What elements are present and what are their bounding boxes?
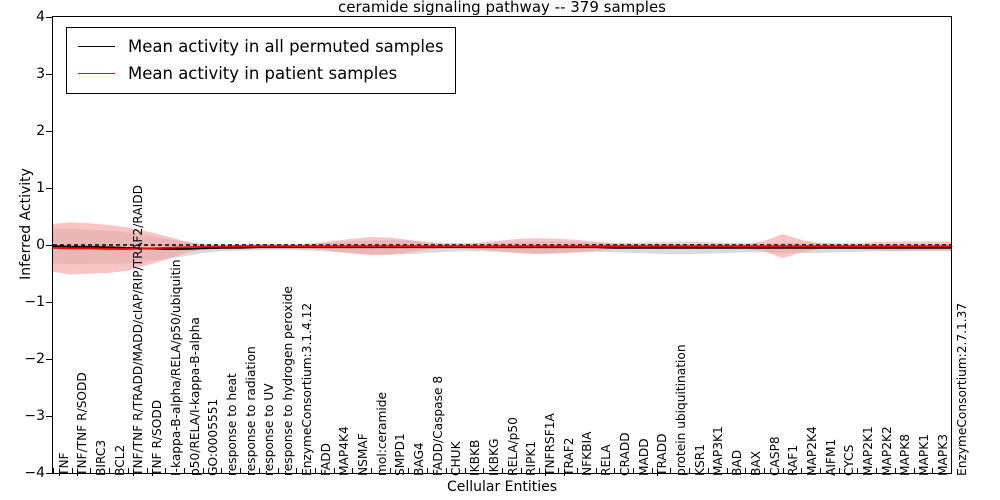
x-tick-mark — [614, 468, 615, 474]
x-tick-label: TNF/TNF R/TRADD/MADD/cIAP/RIP/TRAF2/RAID… — [132, 185, 144, 476]
y-tick-label: 2 — [5, 124, 45, 138]
x-tick-mark — [801, 468, 802, 474]
x-tick-label: GO:0005551 — [207, 399, 219, 476]
x-tick-mark — [745, 468, 746, 474]
y-tick-label: −3 — [5, 409, 45, 423]
x-tick-mark — [278, 468, 279, 474]
x-tick-mark — [352, 468, 353, 474]
y-tick-label: −2 — [5, 352, 45, 366]
x-tick-mark — [334, 468, 335, 474]
x-tick-label: protein ubiquitination — [675, 344, 687, 476]
x-tick-label: TRAF2 — [563, 437, 575, 476]
x-tick-label: IKBKG — [488, 439, 500, 476]
y-tick-label: −4 — [5, 466, 45, 480]
x-tick-label: MAPK3 — [937, 434, 949, 476]
x-tick-label: I-kappa-B-alpha/RELA/p50/ubiquitin — [170, 260, 182, 476]
x-tick-mark — [914, 468, 915, 474]
legend-line-swatch-patient — [78, 73, 115, 74]
x-tick-mark — [109, 468, 110, 474]
x-tick-label: EnzymeConsortium:3.1.4.12 — [301, 303, 313, 476]
x-tick-mark — [371, 468, 372, 474]
x-tick-mark — [390, 468, 391, 474]
x-tick-mark — [932, 468, 933, 474]
x-tick-mark — [876, 468, 877, 474]
x-tick-label: MAPK1 — [918, 434, 930, 476]
x-tick-mark — [128, 468, 129, 474]
x-tick-mark — [90, 468, 91, 474]
x-tick-label: MADD — [638, 438, 650, 476]
x-tick-mark — [315, 468, 316, 474]
x-tick-label: MAP2K4 — [806, 426, 818, 476]
x-tick-label: MAP2K1 — [862, 426, 874, 476]
x-tick-mark — [951, 468, 952, 474]
x-tick-label: NSMAF — [357, 433, 369, 476]
legend-line-swatch-permuted — [78, 46, 115, 47]
x-tick-mark — [708, 468, 709, 474]
x-tick-label: NFKBIA — [581, 432, 593, 476]
x-tick-mark — [839, 468, 840, 474]
x-tick-mark — [783, 468, 784, 474]
legend-item-patient: Mean activity in patient samples — [78, 60, 444, 87]
chart-title: ceramide signaling pathway -- 379 sample… — [52, 0, 952, 15]
x-tick-label: MAP2K2 — [881, 426, 893, 476]
x-tick-mark — [296, 468, 297, 474]
x-tick-label: BAG4 — [413, 442, 425, 476]
x-tick-label: BCL2 — [114, 445, 126, 476]
x-tick-mark — [446, 468, 447, 474]
x-tick-label: IKBKB — [469, 440, 481, 476]
x-tick-mark — [259, 468, 260, 474]
x-tick-label: CHUK — [450, 441, 462, 476]
x-tick-mark — [184, 468, 185, 474]
x-tick-label: BAX — [750, 451, 762, 476]
x-tick-label: TRADD — [656, 433, 668, 476]
x-tick-mark — [857, 468, 858, 474]
x-tick-mark — [72, 468, 73, 474]
x-tick-mark — [521, 468, 522, 474]
x-tick-mark — [240, 468, 241, 474]
x-tick-label: BIRC3 — [95, 440, 107, 476]
x-tick-label: FADD/Caspase 8 — [432, 376, 444, 476]
x-tick-label: FADD — [320, 443, 332, 476]
x-tick-mark — [53, 468, 54, 474]
x-tick-mark — [689, 468, 690, 474]
x-tick-label: TNF R/SODD — [151, 400, 163, 476]
x-tick-label: response to heat — [226, 373, 238, 476]
x-tick-label: CRADD — [619, 432, 631, 476]
x-tick-mark — [764, 468, 765, 474]
legend-label-permuted: Mean activity in all permuted samples — [128, 37, 444, 56]
x-tick-label: SMPD1 — [394, 433, 406, 476]
x-tick-label: RELA/p50 — [507, 417, 519, 476]
x-tick-mark — [577, 468, 578, 474]
y-tick-label: 1 — [5, 181, 45, 195]
x-tick-label: TNF/TNF R/SODD — [76, 372, 88, 476]
x-tick-label: response to radiation — [245, 346, 257, 476]
x-tick-mark — [670, 468, 671, 474]
x-axis-label: Cellular Entities — [52, 479, 952, 495]
legend-label-patient: Mean activity in patient samples — [128, 64, 397, 83]
x-tick-label: BAD — [731, 450, 743, 476]
x-tick-label: CASP8 — [769, 436, 781, 476]
y-tick-label: 4 — [5, 10, 45, 24]
x-tick-label: RIPK1 — [525, 441, 537, 476]
chart-figure: ceramide signaling pathway -- 379 sample… — [0, 0, 1000, 500]
x-tick-label: TNF — [58, 452, 70, 476]
x-tick-label: TNFRSF1A — [544, 413, 556, 476]
x-tick-label: KSR1 — [694, 444, 706, 476]
x-tick-label: p50/RELA/I-kappa-B-alpha — [189, 317, 201, 476]
x-tick-mark — [596, 468, 597, 474]
x-tick-mark — [165, 468, 166, 474]
x-tick-label: RAF1 — [787, 445, 799, 476]
x-tick-mark — [465, 468, 466, 474]
x-tick-mark — [652, 468, 653, 474]
x-tick-mark — [221, 468, 222, 474]
x-tick-mark — [558, 468, 559, 474]
legend-item-permuted: Mean activity in all permuted samples — [78, 33, 444, 60]
x-tick-label: RELA — [600, 444, 612, 476]
x-tick-mark — [147, 468, 148, 474]
x-tick-label: CYCS — [843, 445, 855, 476]
x-tick-label: response to hydrogen peroxide — [282, 286, 294, 476]
x-tick-label: EnzymeConsortium:2.7.1.37 — [956, 303, 968, 476]
x-tick-mark — [539, 468, 540, 474]
chart-legend: Mean activity in all permuted samples Me… — [66, 27, 456, 94]
x-tick-mark — [483, 468, 484, 474]
x-tick-label: AIFM1 — [825, 439, 837, 476]
x-tick-label: MAP4K4 — [338, 426, 350, 476]
x-tick-label: mol:ceramide — [376, 392, 388, 476]
y-tick-label: −1 — [5, 295, 45, 309]
x-tick-label: MAP3K1 — [712, 426, 724, 476]
x-tick-mark — [408, 468, 409, 474]
x-tick-mark — [203, 468, 204, 474]
x-tick-label: MAPK8 — [899, 434, 911, 476]
x-tick-mark — [820, 468, 821, 474]
y-tick-label: 0 — [5, 238, 45, 252]
y-tick-label: 3 — [5, 67, 45, 81]
x-tick-mark — [633, 468, 634, 474]
x-tick-mark — [427, 468, 428, 474]
x-tick-mark — [502, 468, 503, 474]
x-tick-mark — [727, 468, 728, 474]
x-tick-mark — [895, 468, 896, 474]
x-tick-label: response to UV — [263, 383, 275, 476]
